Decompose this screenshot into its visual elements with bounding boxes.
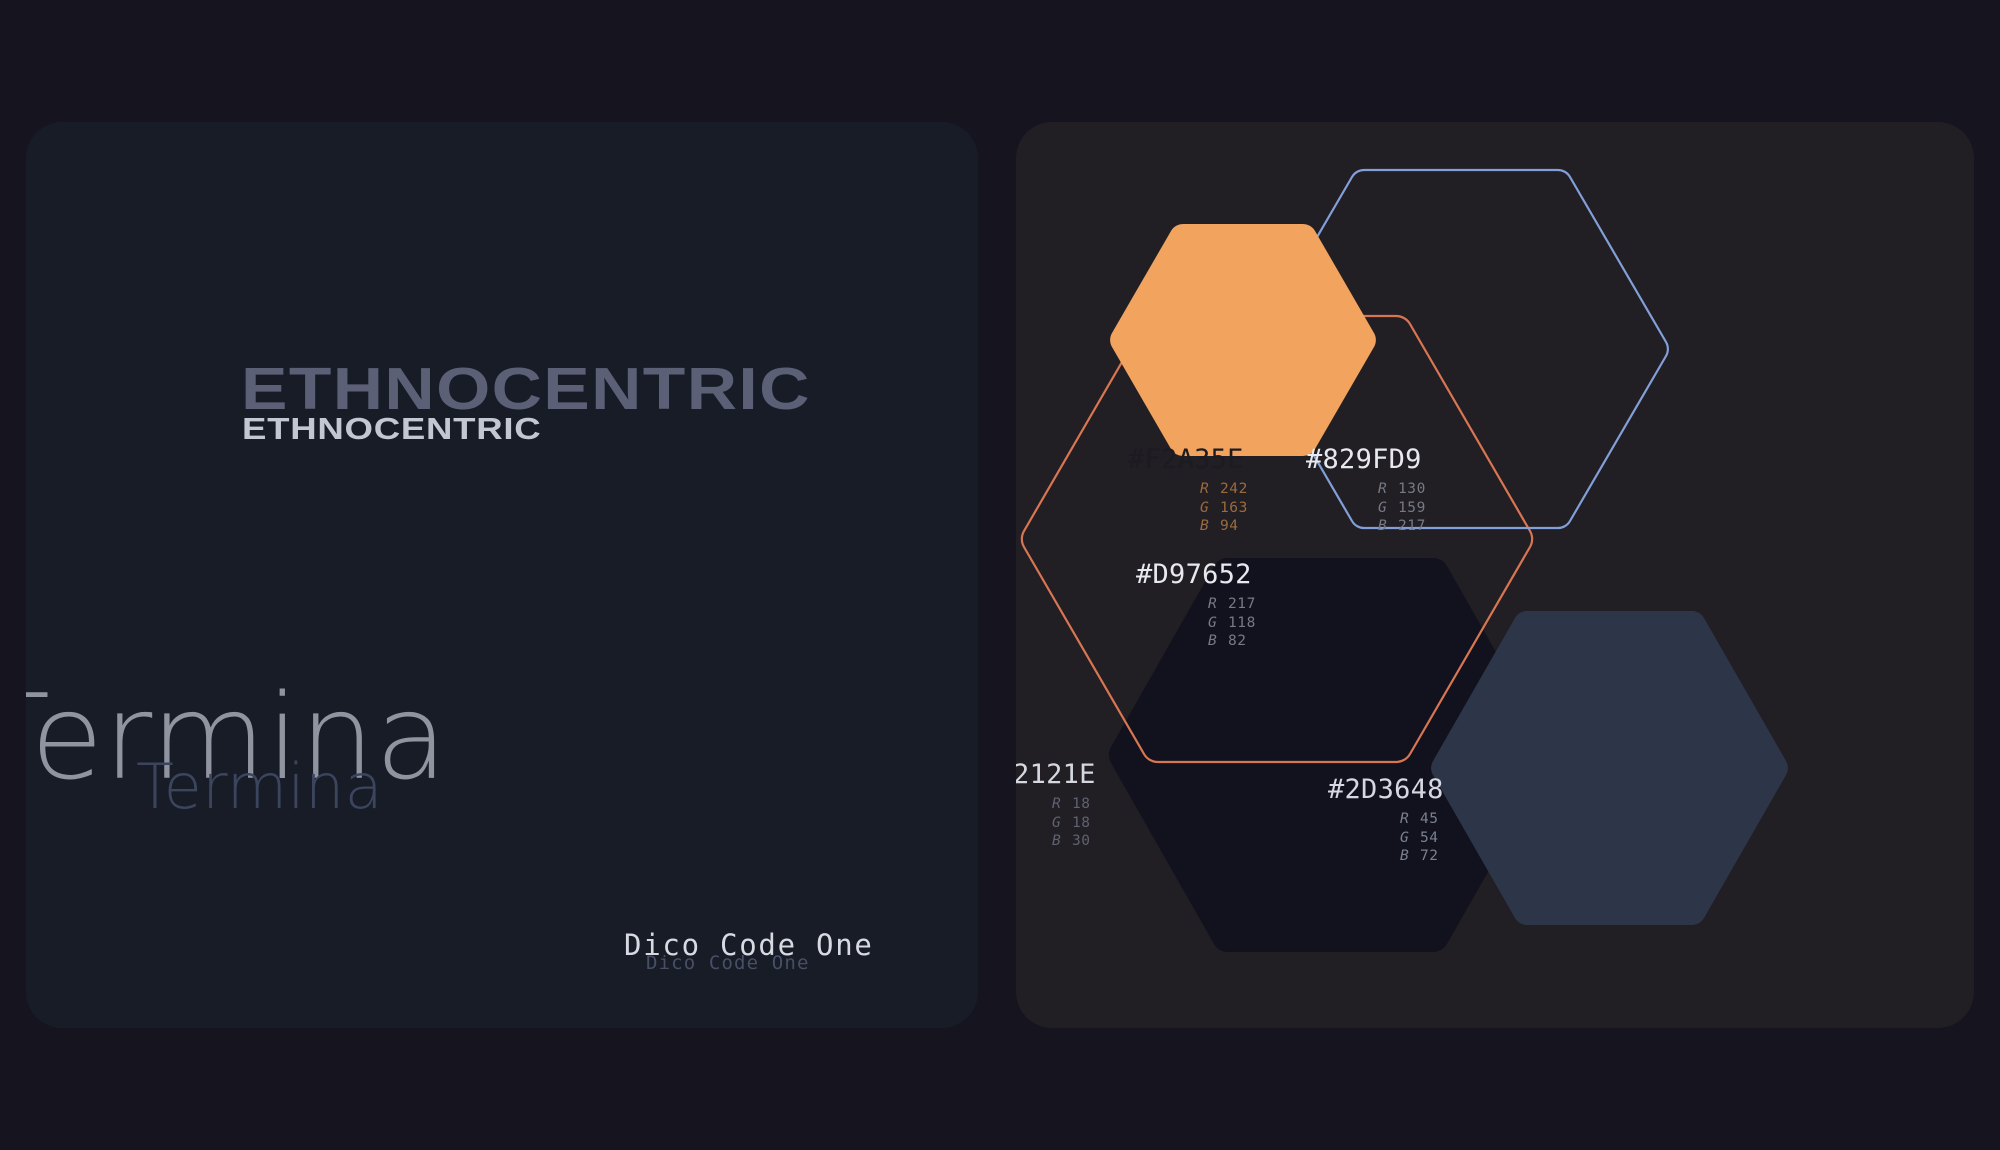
specimen-termina-small: Termina [136,750,383,823]
color-palette-panel: #F2A35E R242 G163 B94 #829FD9 R130 G159 … [1016,122,1974,1028]
hexagon-swatch-canvas [1016,122,1974,1028]
specimen-dico-code-one-small: Dico Code One [646,952,810,974]
specimen-ethnocentric-small: ETHNOCENTRIC [242,411,541,447]
hexagon-shape-f2a35e[interactable] [1110,224,1376,456]
typography-specimen-panel: ETHNOCENTRIC ETHNOCENTRIC Termina Termin… [26,122,978,1028]
brand-style-board: ETHNOCENTRIC ETHNOCENTRIC Termina Termin… [0,0,2000,1150]
